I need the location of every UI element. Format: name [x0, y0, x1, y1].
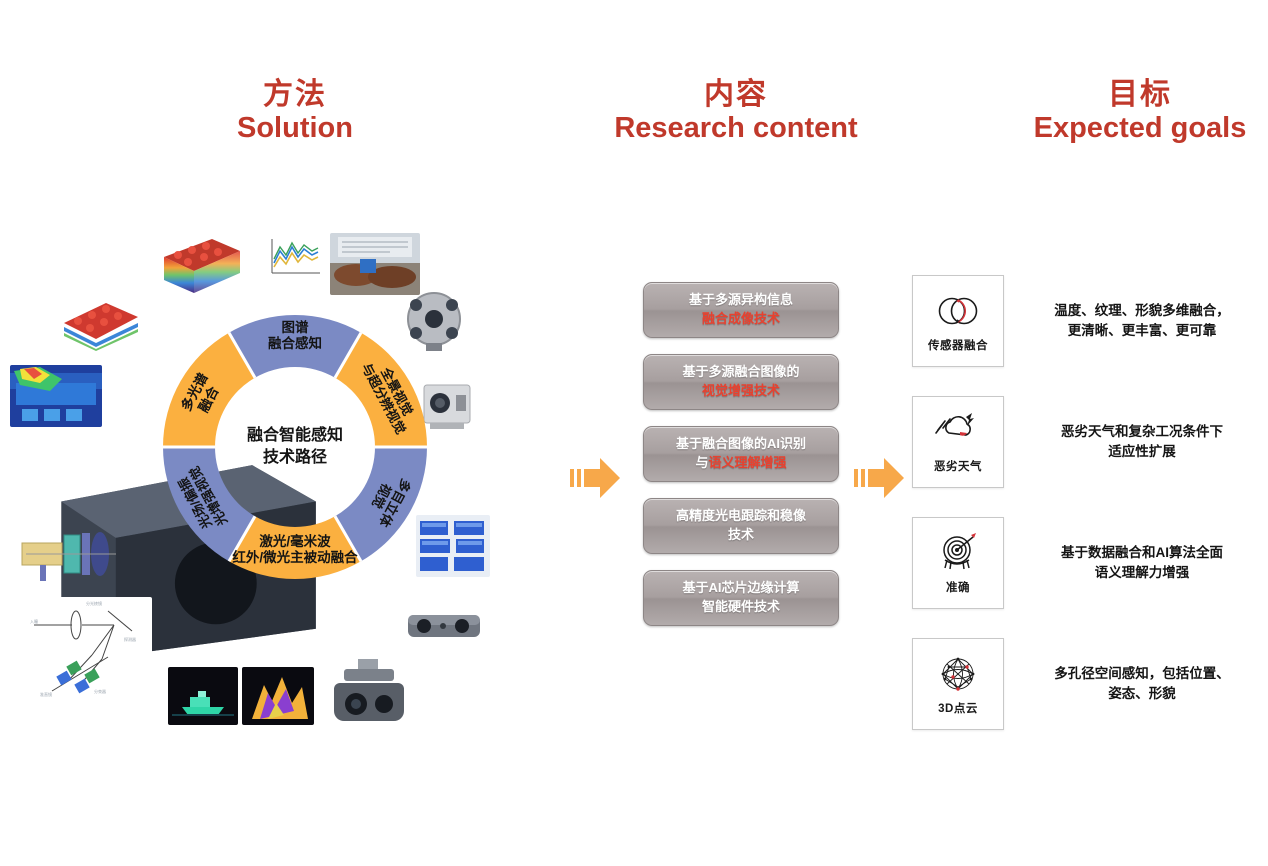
svg-text:探测器: 探测器 — [124, 636, 136, 642]
spectrum-plot-thumb — [262, 233, 324, 283]
header-content-zh: 内容 — [596, 78, 876, 112]
wheel-center-label: 融合智能感知 技术路径 — [140, 292, 450, 602]
pipeline-inspection-thumb — [330, 233, 420, 295]
content-box-4[interactable]: 基于AI芯片边缘计算 智能硬件技术 — [643, 570, 839, 626]
goal-desc-0: 温度、纹理、形貌多维融合， 更清晰、更丰富、更可靠 — [1004, 301, 1262, 342]
content-box-2-line2-prefix: 与 — [695, 455, 708, 470]
goal-card-1[interactable]: 恶劣天气 — [912, 396, 1004, 488]
research-content-column: 基于多源异构信息 融合成像技术 基于多源融合图像的 视觉增强技术 基于融合图像的… — [643, 282, 839, 642]
goal-card-2[interactable]: 准确 — [912, 517, 1004, 609]
goal-caption-0: 传感器融合 — [928, 337, 988, 353]
content-box-2-line1: 基于融合图像的AI识别 — [676, 436, 806, 451]
content-box-2-line2: 语义理解增强 — [708, 455, 786, 470]
goal-card-0[interactable]: 传感器融合 — [912, 275, 1004, 367]
content-box-2[interactable]: 基于融合图像的AI识别 与语义理解增强 — [643, 426, 839, 482]
bad-weather-icon — [933, 411, 983, 453]
content-box-3-line1: 高精度光电跟踪和稳像 — [676, 508, 806, 523]
arrow-content-to-goals — [854, 455, 906, 501]
content-box-1[interactable]: 基于多源融合图像的 视觉增强技术 — [643, 354, 839, 410]
header-expected-goals: 目标 Expected goals — [1000, 78, 1268, 144]
header-goals-en: Expected goals — [1000, 112, 1268, 144]
svg-text:入瞳: 入瞳 — [30, 618, 38, 624]
header-solution: 方法 Solution — [155, 78, 435, 144]
svg-text:分束器: 分束器 — [94, 688, 106, 694]
hyperspectral-cube-thumb — [160, 235, 242, 297]
header-solution-zh: 方法 — [155, 78, 435, 112]
thermal-infrared-thumb — [10, 365, 102, 427]
target-icon — [933, 532, 983, 574]
content-box-4-line1: 基于AI芯片边缘计算 — [682, 580, 799, 595]
goal-caption-2: 准确 — [946, 579, 970, 595]
goal-row-3: 3D点云 多孔径空间感知，包括位置、 姿态、形貌 — [912, 628, 1262, 740]
expected-goals-column: 传感器融合 温度、纹理、形貌多维融合， 更清晰、更丰富、更可靠 恶劣天气 恶劣天… — [912, 265, 1262, 749]
content-box-3[interactable]: 高精度光电跟踪和稳像 技术 — [643, 498, 839, 554]
goal-caption-3: 3D点云 — [938, 700, 978, 716]
header-research-content: 内容 Research content — [596, 78, 876, 144]
optical-schematic-thumb: 入瞳分光棱镜探测器准直镜分束器 — [28, 597, 152, 697]
content-box-3-line2: 技术 — [728, 527, 754, 542]
hyperspectral-layers-thumb — [62, 297, 140, 351]
goal-row-1: 恶劣天气 恶劣天气和复杂工况条件下 适应性扩展 — [912, 386, 1262, 498]
goal-desc-3: 多孔径空间感知，包括位置、 姿态、形貌 — [1004, 664, 1262, 705]
content-box-0-line2: 融合成像技术 — [702, 311, 780, 326]
arrow-solution-to-content — [570, 455, 622, 501]
solution-wheel-area: 入瞳分光棱镜探测器准直镜分束器 — [10, 225, 480, 725]
stereo-camera-thumb — [404, 603, 484, 649]
goal-row-2: 准确 基于数据融合和AI算法全面 语义理解力增强 — [912, 507, 1262, 619]
gimbal-camera-thumb — [328, 657, 410, 731]
header-goals-zh: 目标 — [1000, 78, 1268, 112]
content-box-4-line2: 智能硬件技术 — [702, 599, 780, 614]
sensor-fusion-icon — [933, 290, 983, 332]
svg-text:准直镜: 准直镜 — [40, 691, 52, 697]
wheel-center-line1: 融合智能感知 — [247, 425, 343, 447]
night-vision-ship-thumb — [168, 667, 238, 725]
svg-text:分光棱镜: 分光棱镜 — [86, 600, 102, 606]
header-solution-en: Solution — [155, 112, 435, 144]
content-box-1-line2: 视觉增强技术 — [702, 383, 780, 398]
goal-desc-1: 恶劣天气和复杂工况条件下 适应性扩展 — [1004, 422, 1262, 463]
goal-caption-1: 恶劣天气 — [934, 458, 982, 474]
goal-row-0: 传感器融合 温度、纹理、形貌多维融合， 更清晰、更丰富、更可靠 — [912, 265, 1262, 377]
header-content-en: Research content — [596, 112, 876, 144]
content-box-0[interactable]: 基于多源异构信息 融合成像技术 — [643, 282, 839, 338]
thermal-structure-thumb — [242, 667, 314, 725]
optical-bench-thumb — [20, 525, 120, 585]
point-cloud-icon — [933, 653, 983, 695]
content-box-0-line1: 基于多源异构信息 — [689, 292, 793, 307]
wheel-center-line2: 技术路径 — [263, 447, 327, 469]
goal-desc-2: 基于数据融合和AI算法全面 语义理解力增强 — [1004, 543, 1262, 584]
content-box-1-line1: 基于多源融合图像的 — [682, 364, 799, 379]
goal-card-3[interactable]: 3D点云 — [912, 638, 1004, 730]
